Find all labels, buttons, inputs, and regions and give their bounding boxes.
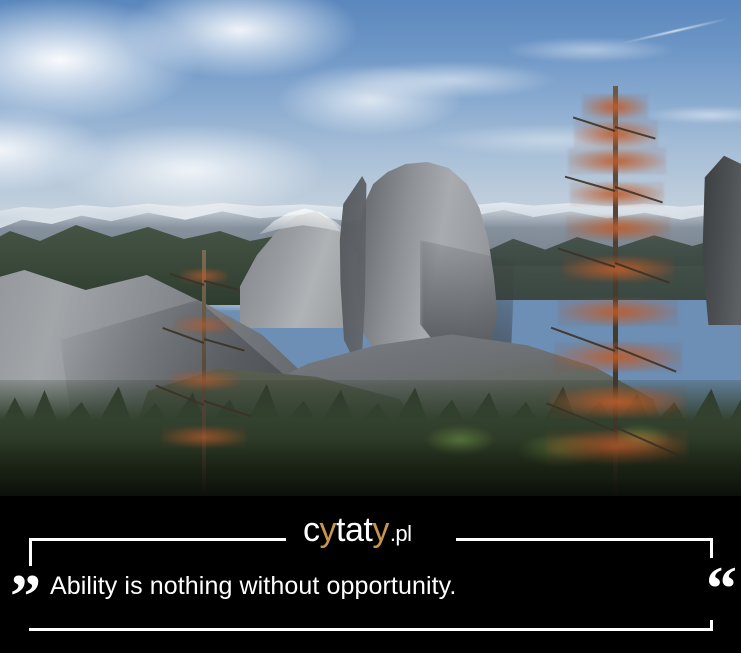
quote-text: Ability is nothing without opportunity.: [50, 571, 670, 601]
foreground-shadow: [0, 440, 741, 496]
background-photo: [0, 0, 741, 496]
logo-part-tat: tat: [336, 513, 372, 547]
quote-mark-right-icon: “: [702, 558, 741, 620]
logo-part-tld: .pl: [390, 523, 412, 545]
logo-part-c: c: [303, 513, 320, 547]
quote-image-card: cytaty.pl ” “ Ability is nothing without…: [0, 0, 741, 653]
dead-pine-right: [568, 86, 708, 496]
caption-bar: cytaty.pl ” “ Ability is nothing without…: [0, 496, 741, 653]
logo-part-y1: y: [320, 513, 337, 547]
logo-part-y2: y: [372, 513, 389, 547]
quote-mark-left-icon: ”: [6, 566, 45, 628]
cytaty-pl-logo[interactable]: cytaty.pl: [303, 513, 412, 549]
